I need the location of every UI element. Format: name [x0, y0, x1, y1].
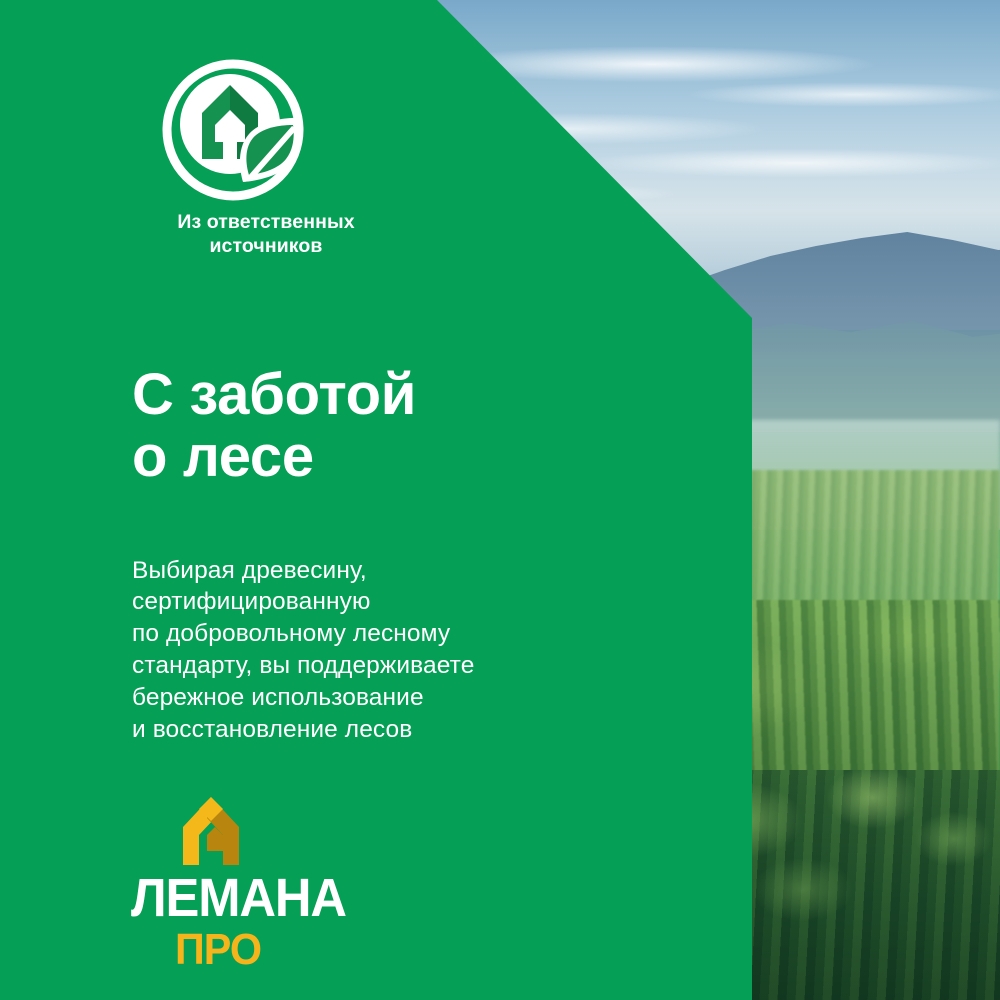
certification-badge: Из ответственных источников — [131, 58, 401, 258]
brand-name: ЛЕМАНА — [131, 871, 366, 925]
poster-content: Из ответственных источников С заботой о … — [0, 0, 752, 1000]
poster-canvas: Из ответственных источников С заботой о … — [0, 0, 1000, 1000]
body-copy: Выбирая древесину, сертифицированную по … — [132, 555, 652, 746]
page-title: С заботой о лесе — [132, 364, 652, 489]
brand-sub-name: ПРО — [175, 928, 369, 972]
brand-logo: ЛЕМАНА ПРО — [131, 795, 381, 972]
lemana-house-icon — [173, 795, 249, 869]
certification-badge-caption: Из ответственных источников — [131, 210, 401, 258]
house-leaf-circle-icon — [161, 58, 305, 202]
